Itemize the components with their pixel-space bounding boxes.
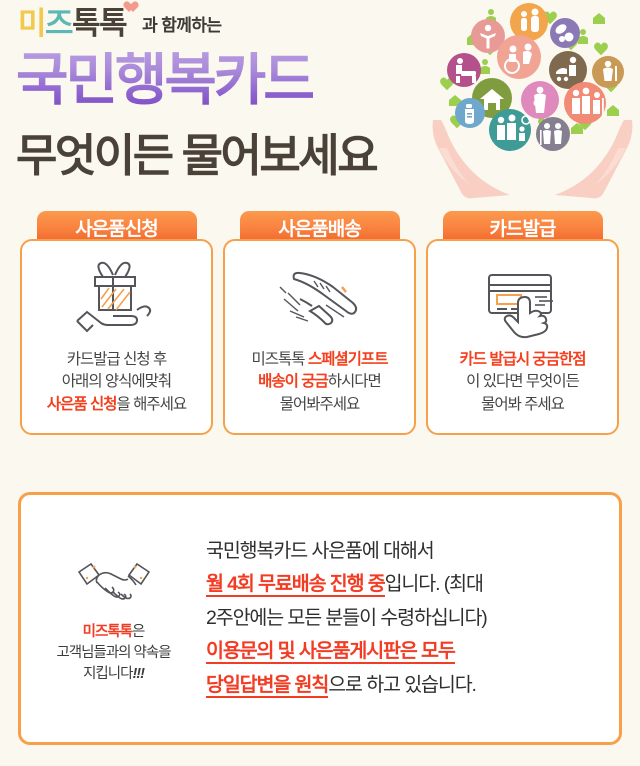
card-line: 카드발급 신청 후 — [47, 349, 186, 371]
card-segment-highlight: 카드 발급시 궁금한점 — [460, 351, 586, 368]
logo-char-1: 미 — [18, 8, 45, 39]
promise-segment: 은 — [132, 624, 144, 640]
promise-exclaim: !!! — [132, 666, 144, 682]
promise-segment: 국민행복카드 사은품에 대해서 — [206, 540, 434, 562]
logo-wordmark: 미즈톡톡 — [18, 8, 126, 39]
handshake-icon — [75, 552, 153, 613]
card-segment: 아래의 양식에맞춰 — [62, 373, 171, 390]
logo-char-2: 즈 — [45, 8, 72, 39]
card-description: 카드 발급시 궁금한점 이 있다면 무엇이든 물어봐 주세요 — [460, 349, 586, 416]
promise-segment-underlined: 이용문의 및 사은품게시판은 모두 — [206, 640, 455, 664]
promise-line: 고객님들과의 약속을 — [56, 643, 170, 664]
card-segment: 카드발급 신청 후 — [67, 351, 166, 368]
promise-detail-line: 당일답변을 원칙으로 하고 있습니다. — [206, 669, 593, 703]
page-subtitle: 무엇이든 물어보세요 — [16, 133, 376, 178]
info-cards-row: 사은품신청 — [20, 211, 620, 435]
card-segment-highlight: 사은품 신청 — [47, 396, 117, 413]
card-segment: 물어봐주세요 — [280, 396, 360, 413]
logo-suffix-text: 과 함께하는 — [142, 11, 221, 39]
promise-segment: 고객님들과의 약속을 — [56, 645, 170, 661]
gift-on-hand-icon — [67, 257, 167, 341]
card-gift-request[interactable]: 사은품신청 — [20, 211, 213, 435]
card-description: 카드발급 신청 후 아래의 양식에맞춰 사은품 신청을 해주세요 — [47, 349, 186, 416]
card-line: 물어봐 주세요 — [460, 394, 586, 416]
illustration-svg — [425, 0, 640, 200]
heart-icon — [126, 2, 139, 14]
card-line: 카드 발급시 궁금한점 — [460, 349, 586, 371]
card-segment-highlight: 스페셜기프트 — [308, 351, 388, 368]
airplane-icon — [270, 257, 370, 341]
credit-card-pointer-icon — [473, 257, 573, 341]
promise-segment-underlined: 월 4회 무료배송 진행 중 — [206, 573, 385, 597]
promise-segment: 지킵니다 — [83, 666, 132, 682]
promise-segment: 입니다. (최대 — [385, 573, 483, 595]
promise-line: 지킵니다!!! — [56, 664, 170, 685]
brand-highlight: 미즈톡톡 — [83, 624, 132, 640]
promise-line: 미즈톡톡은 — [56, 622, 170, 643]
card-segment-highlight: 배송이 궁금 — [258, 373, 328, 390]
card-segment: 물어봐 주세요 — [481, 396, 564, 413]
page-title: 국민행복카드 — [16, 52, 313, 109]
hands-welfare-illustration — [425, 0, 640, 200]
promise-left: 미즈톡톡은 고객님들과의 약속을 지킵니다!!! — [21, 552, 206, 685]
card-body: 카드발급 신청 후 아래의 양식에맞춰 사은품 신청을 해주세요 — [20, 239, 213, 435]
promise-segment: 으로 하고 있습니다. — [328, 674, 476, 696]
promise-segment-underlined: 당일답변을 원칙 — [206, 674, 328, 698]
card-segment: 하시다면 — [328, 373, 381, 390]
card-segment: 이 있다면 무엇이든 — [466, 373, 579, 390]
header-section: 미즈톡톡 과 함께하는 국민행복카드 무엇이든 물어보세요 — [0, 0, 640, 200]
card-line: 사은품 신청을 해주세요 — [47, 394, 186, 416]
card-description: 미즈톡톡 스페셜기프트 배송이 궁금하시다면 물어봐주세요 — [252, 349, 388, 416]
card-segment: 을 해주세요 — [117, 396, 187, 413]
card-line: 아래의 양식에맞춰 — [47, 371, 186, 393]
card-line: 미즈톡톡 스페셜기프트 — [252, 349, 388, 371]
promise-right-text: 국민행복카드 사은품에 대해서 월 4회 무료배송 진행 중입니다. (최대 2… — [206, 535, 619, 703]
promise-detail-line: 이용문의 및 사은품게시판은 모두 — [206, 635, 593, 669]
card-segment: 미즈톡톡 — [252, 351, 308, 368]
card-body: 카드 발급시 궁금한점 이 있다면 무엇이든 물어봐 주세요 — [426, 239, 619, 435]
logo-char-3: 톡톡 — [72, 8, 126, 39]
promise-panel: 미즈톡톡은 고객님들과의 약속을 지킵니다!!! 국민행복카드 사은품에 대해서… — [18, 492, 622, 745]
card-line: 배송이 궁금하시다면 — [252, 371, 388, 393]
card-card-issuance[interactable]: 카드발급 카드 발급 — [426, 211, 619, 435]
promise-detail-line: 2주안에는 모든 분들이 수령하십니다) — [206, 602, 593, 636]
card-gift-delivery[interactable]: 사은품배송 — [223, 211, 416, 435]
card-line: 이 있다면 무엇이든 — [460, 371, 586, 393]
card-body: 미즈톡톡 스페셜기프트 배송이 궁금하시다면 물어봐주세요 — [223, 239, 416, 435]
card-line: 물어봐주세요 — [252, 394, 388, 416]
promise-detail-line: 월 4회 무료배송 진행 중입니다. (최대 — [206, 568, 593, 602]
promise-segment: 2주안에는 모든 분들이 수령하십니다) — [206, 607, 487, 629]
promise-left-text: 미즈톡톡은 고객님들과의 약속을 지킵니다!!! — [56, 622, 170, 685]
brand-logo: 미즈톡톡 과 함께하는 — [18, 8, 221, 39]
promise-detail-line: 국민행복카드 사은품에 대해서 — [206, 535, 593, 569]
